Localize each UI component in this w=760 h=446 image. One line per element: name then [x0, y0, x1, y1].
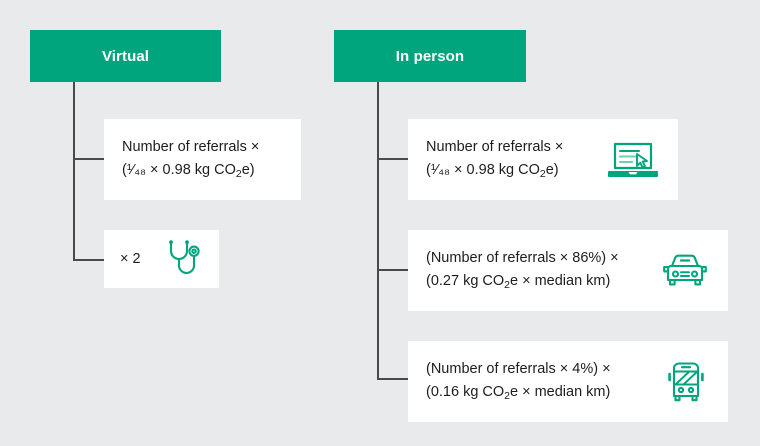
card-virtual-referrals: Number of referrals × (¹⁄₄₈ × 0.98 kg CO… [104, 119, 301, 200]
card-in-person-referrals-text: Number of referrals × (¹⁄₄₈ × 0.98 kg CO… [426, 136, 563, 183]
co2-suffix: e) [546, 162, 559, 178]
card-virtual-multiplier-line1: × 2 [120, 248, 141, 270]
co2-prefix: (0.27 kg CO [426, 273, 504, 289]
laptop-cursor-icon [606, 138, 660, 182]
connector-in-person-branch-3 [377, 378, 410, 380]
card-in-person-car-text: (Number of referrals × 86%) × (0.27 kg C… [426, 247, 619, 294]
stethoscope-icon [163, 238, 203, 280]
card-in-person-referrals-line2: (¹⁄₄₈ × 0.98 kg CO2e) [426, 159, 563, 183]
fraction-one-forty-eighth: ¹⁄₄₈ [431, 162, 450, 178]
bus-icon [662, 358, 710, 406]
co2-suffix: e) [242, 162, 255, 178]
card-in-person-car-line1: (Number of referrals × 86%) × [426, 247, 619, 269]
connector-virtual-trunk [73, 82, 75, 261]
emissions-calculation-diagram: Virtual Number of referrals × (¹⁄₄₈ × 0.… [0, 0, 760, 446]
connector-in-person-branch-1 [377, 158, 410, 160]
card-in-person-bus: (Number of referrals × 4%) × (0.16 kg CO… [408, 341, 728, 422]
connector-in-person-trunk [377, 82, 379, 380]
card-in-person-car-line2: (0.27 kg CO2e × median km) [426, 270, 619, 294]
card-in-person-bus-line2: (0.16 kg CO2e × median km) [426, 381, 611, 405]
connector-in-person-branch-2 [377, 269, 410, 271]
co2-suffix: e × median km) [510, 384, 610, 400]
car-icon [660, 249, 710, 293]
co2-prefix: × 0.98 kg CO [450, 162, 540, 178]
connector-virtual-branch-1 [73, 158, 106, 160]
fraction-one-forty-eighth: ¹⁄₄₈ [127, 162, 146, 178]
card-virtual-multiplier: × 2 [104, 230, 219, 288]
connector-virtual-branch-2 [73, 259, 106, 261]
co2-suffix: e × median km) [510, 273, 610, 289]
co2-prefix: × 0.98 kg CO [146, 162, 236, 178]
card-virtual-multiplier-text: × 2 [120, 248, 141, 270]
card-in-person-referrals: Number of referrals × (¹⁄₄₈ × 0.98 kg CO… [408, 119, 678, 200]
card-virtual-referrals-text: Number of referrals × (¹⁄₄₈ × 0.98 kg CO… [122, 136, 259, 183]
card-virtual-referrals-line1: Number of referrals × [122, 136, 259, 158]
header-virtual: Virtual [30, 30, 221, 82]
card-in-person-referrals-line1: Number of referrals × [426, 136, 563, 158]
co2-prefix: (0.16 kg CO [426, 384, 504, 400]
card-in-person-bus-text: (Number of referrals × 4%) × (0.16 kg CO… [426, 358, 611, 405]
header-virtual-label: Virtual [102, 48, 149, 65]
card-in-person-car: (Number of referrals × 86%) × (0.27 kg C… [408, 230, 728, 311]
card-in-person-bus-line1: (Number of referrals × 4%) × [426, 358, 611, 380]
header-in-person: In person [334, 30, 526, 82]
header-in-person-label: In person [396, 48, 464, 65]
card-virtual-referrals-line2: (¹⁄₄₈ × 0.98 kg CO2e) [122, 159, 259, 183]
